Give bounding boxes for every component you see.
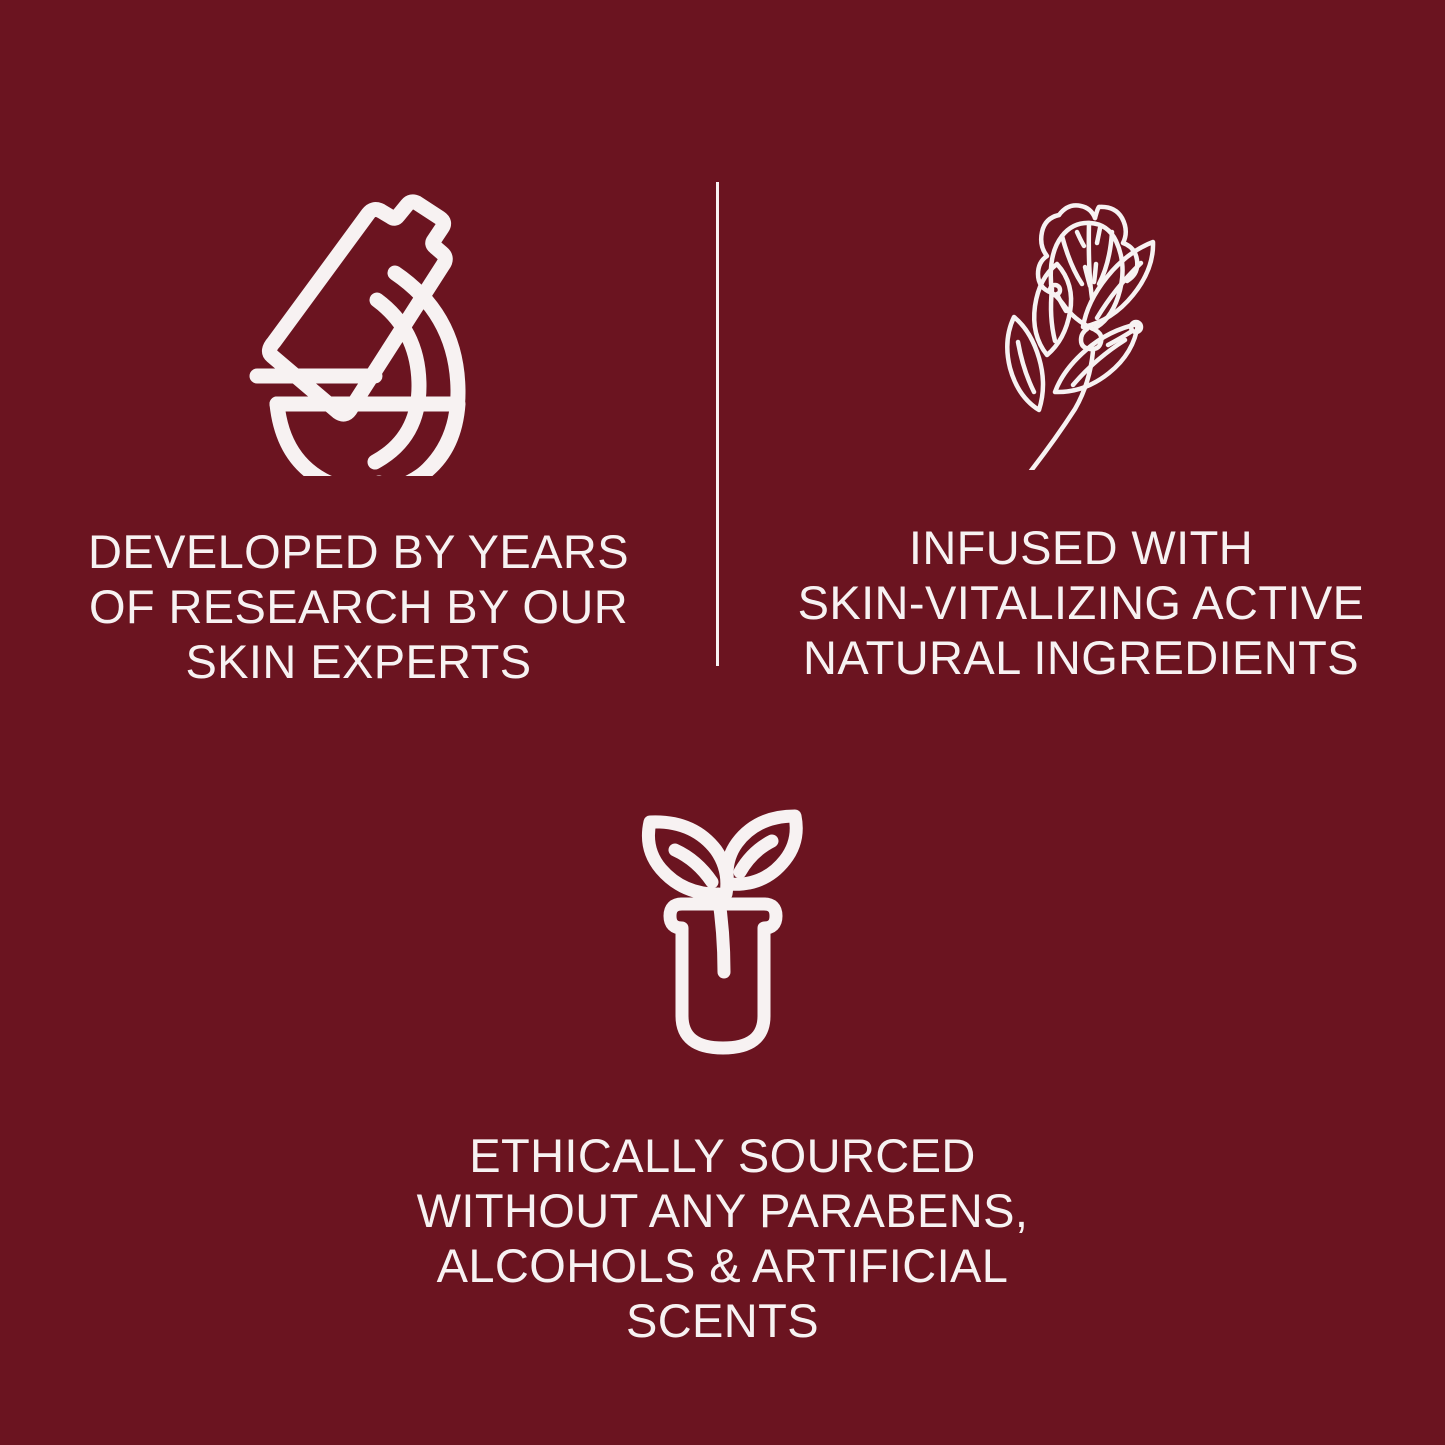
feature-research: DEVELOPED BY YEARS OF RESEARCH BY OUR SK… <box>0 0 717 689</box>
feature-ethical: ETHICALLY SOURCED WITHOUT ANY PARABENS, … <box>273 790 1173 1348</box>
brand-benefits-panel: DEVELOPED BY YEARS OF RESEARCH BY OUR SK… <box>0 0 1445 1445</box>
bottom-feature-row: ETHICALLY SOURCED WITHOUT ANY PARABENS, … <box>0 790 1445 1348</box>
feature-ethical-caption: ETHICALLY SOURCED WITHOUT ANY PARABENS, … <box>417 1128 1029 1348</box>
feature-ingredients: INFUSED WITH SKIN-VITALIZING ACTIVE NATU… <box>717 0 1445 685</box>
top-feature-row: DEVELOPED BY YEARS OF RESEARCH BY OUR SK… <box>0 0 1445 700</box>
test-tube-sprout-icon <box>623 790 823 1060</box>
column-divider <box>716 182 719 666</box>
microscope-icon <box>245 176 473 476</box>
feature-ingredients-caption: INFUSED WITH SKIN-VITALIZING ACTIVE NATU… <box>798 520 1365 685</box>
flower-icon <box>981 170 1181 470</box>
feature-research-caption: DEVELOPED BY YEARS OF RESEARCH BY OUR SK… <box>88 524 629 689</box>
